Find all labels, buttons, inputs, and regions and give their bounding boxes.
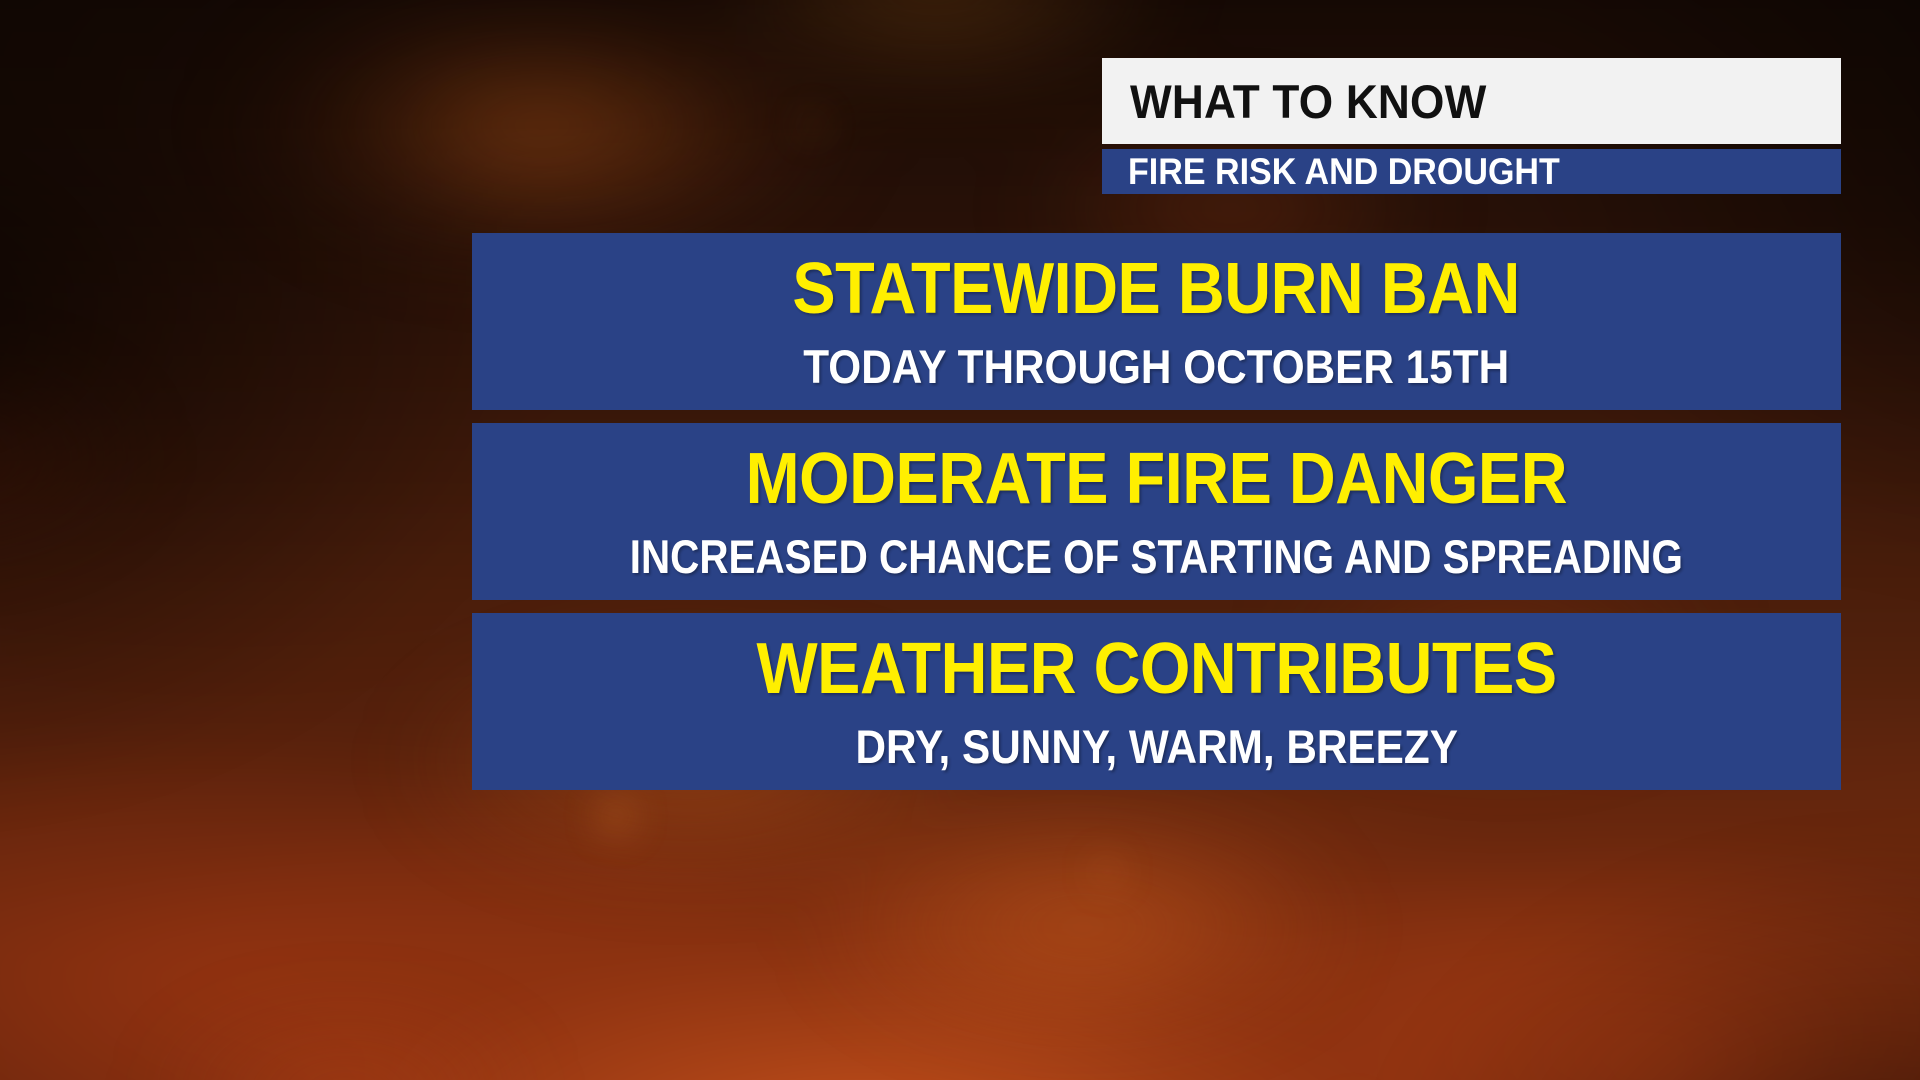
info-bar-fire-danger: MODERATE FIRE DANGER INCREASED CHANCE OF… xyxy=(472,423,1841,600)
info-bar-headline: STATEWIDE BURN BAN xyxy=(793,253,1520,325)
page-subtitle: FIRE RISK AND DROUGHT xyxy=(1128,153,1560,190)
page-title: WHAT TO KNOW xyxy=(1130,78,1486,125)
info-bar-burn-ban: STATEWIDE BURN BAN TODAY THROUGH OCTOBER… xyxy=(472,233,1841,410)
info-bar-list: STATEWIDE BURN BAN TODAY THROUGH OCTOBER… xyxy=(472,233,1841,790)
info-bar-subline: INCREASED CHANCE OF STARTING AND SPREADI… xyxy=(630,533,1683,580)
header-block: WHAT TO KNOW FIRE RISK AND DROUGHT xyxy=(1102,58,1841,194)
info-bar-headline: WEATHER CONTRIBUTES xyxy=(756,633,1556,705)
info-bar-subline: TODAY THROUGH OCTOBER 15TH xyxy=(804,343,1510,390)
page-title-panel: WHAT TO KNOW xyxy=(1102,58,1841,144)
weather-graphic-fullscreen: WHAT TO KNOW FIRE RISK AND DROUGHT STATE… xyxy=(0,0,1920,1080)
info-bar-subline: DRY, SUNNY, WARM, BREEZY xyxy=(855,723,1457,770)
info-bar-weather-contributes: WEATHER CONTRIBUTES DRY, SUNNY, WARM, BR… xyxy=(472,613,1841,790)
page-subtitle-panel: FIRE RISK AND DROUGHT xyxy=(1102,149,1841,194)
info-bar-headline: MODERATE FIRE DANGER xyxy=(746,443,1567,515)
